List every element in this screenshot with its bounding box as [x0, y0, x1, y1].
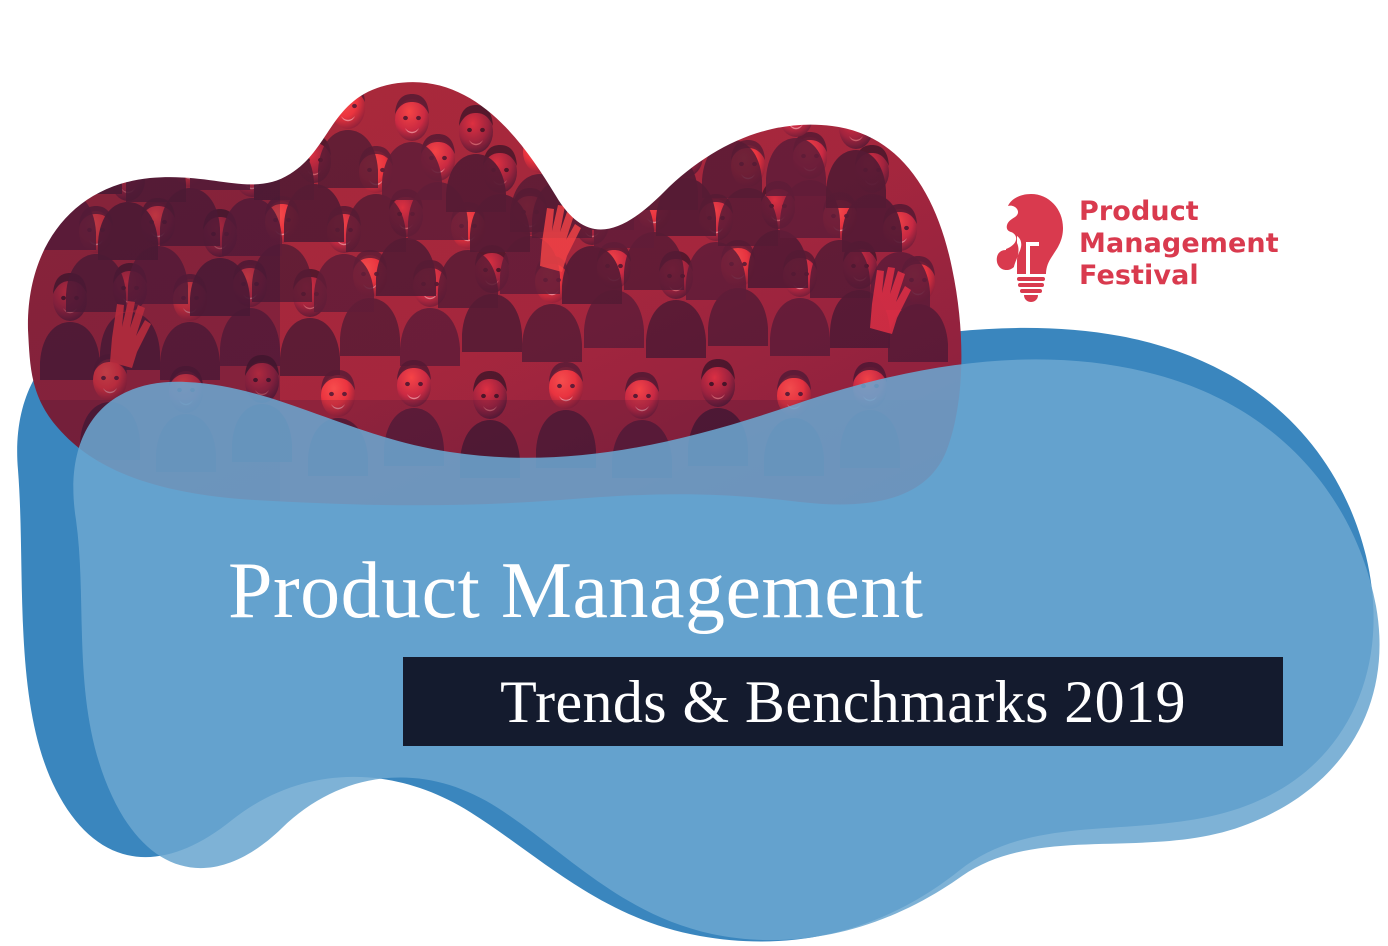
page-title: Product Management	[228, 548, 923, 634]
subtitle-banner: Trends & Benchmarks 2019	[403, 657, 1283, 746]
title-slide: Product Management Festival Product Mana…	[0, 0, 1388, 946]
brand-logo: Product Management Festival	[993, 190, 1293, 310]
blue-wave-blob	[0, 0, 1388, 946]
logo-line-product: Product	[1079, 196, 1279, 228]
logo-line-management: Management	[1079, 228, 1279, 260]
page-subtitle: Trends & Benchmarks 2019	[500, 670, 1186, 734]
logo-line-festival: Festival	[1079, 260, 1279, 292]
blue-wave-blob-accent	[0, 0, 1388, 946]
crowd-photo-blob	[0, 0, 1388, 946]
lightbulb-face-logo-icon	[993, 190, 1067, 302]
brand-logo-text: Product Management Festival	[1079, 196, 1279, 292]
